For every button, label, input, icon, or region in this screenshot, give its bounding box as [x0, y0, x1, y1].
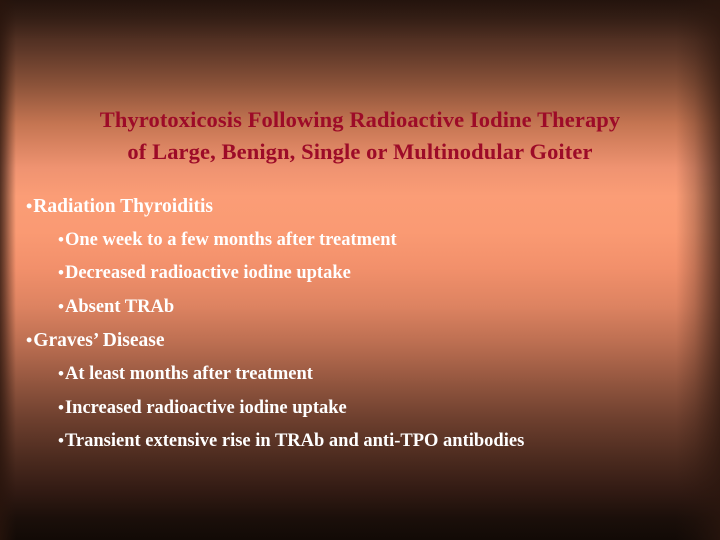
bullet-item-at-least-months: • At least months after treatment: [0, 364, 720, 398]
bullet-icon: •: [58, 365, 64, 382]
bullet-label: Decreased radioactive iodine uptake: [65, 263, 351, 284]
bullet-label: Transient extensive rise in TRAb and ant…: [65, 431, 524, 452]
bullet-icon: •: [26, 332, 32, 350]
bullet-item-decreased-uptake: • Decreased radioactive iodine uptake: [0, 263, 720, 297]
bullet-label: Radiation Thyroiditis: [33, 196, 213, 218]
slide-title: Thyrotoxicosis Following Radioactive Iod…: [28, 104, 692, 168]
bullet-item-radiation-thyroiditis: • Radiation Thyroiditis: [0, 196, 720, 230]
bullet-icon: •: [58, 298, 64, 315]
bullet-item-increased-uptake: • Increased radioactive iodine uptake: [0, 398, 720, 432]
bullet-item-graves-disease: • Graves’ Disease: [0, 330, 720, 364]
bullet-item-absent-trab: • Absent TRAb: [0, 297, 720, 331]
top-shadow-overlay: [0, 0, 720, 40]
slide-body: • Radiation Thyroiditis • One week to a …: [0, 196, 720, 465]
presentation-slide: Thyrotoxicosis Following Radioactive Iod…: [0, 0, 720, 540]
bullet-label: At least months after treatment: [65, 364, 313, 385]
bullet-icon: •: [58, 399, 64, 416]
bullet-icon: •: [58, 231, 64, 248]
bullet-icon: •: [58, 264, 64, 281]
bullet-label: Absent TRAb: [65, 297, 174, 318]
bullet-item-transient-rise-trab: • Transient extensive rise in TRAb and a…: [0, 431, 720, 465]
bullet-item-one-week-to-a-few-months: • One week to a few months after treatme…: [0, 230, 720, 264]
bullet-icon: •: [26, 198, 32, 216]
bullet-label: Increased radioactive iodine uptake: [65, 398, 347, 419]
bullet-icon: •: [58, 432, 64, 449]
bullet-label: One week to a few months after treatment: [65, 230, 397, 251]
slide-title-line-1: Thyrotoxicosis Following Radioactive Iod…: [28, 104, 692, 136]
bullet-label: Graves’ Disease: [33, 330, 164, 352]
slide-title-line-2: of Large, Benign, Single or Multinodular…: [28, 136, 692, 168]
